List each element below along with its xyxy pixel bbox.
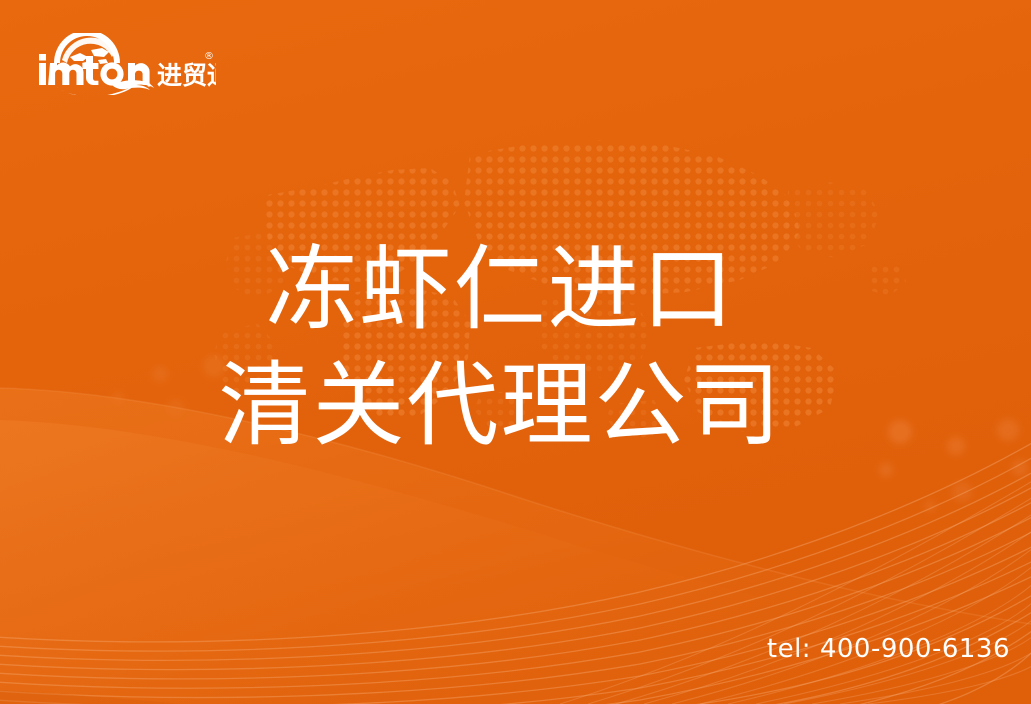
headline-block: 冻虾仁进口 清关代理公司 [0, 232, 1031, 464]
headline-line-1: 冻虾仁进口 [0, 232, 1001, 348]
company-logo[interactable]: 进贸通 ® [36, 33, 216, 95]
promotional-banner: 进贸通 ® 冻虾仁进口 清关代理公司 tel: 400-900-6136 [0, 0, 1031, 704]
logo-graphic: 进贸通 ® [36, 33, 216, 95]
contact-phone[interactable]: tel: 400-900-6136 [767, 634, 1010, 664]
logo-chinese-name: 进贸通 [157, 61, 216, 90]
registered-mark: ® [204, 51, 214, 62]
headline-line-2: 清关代理公司 [0, 348, 1001, 464]
